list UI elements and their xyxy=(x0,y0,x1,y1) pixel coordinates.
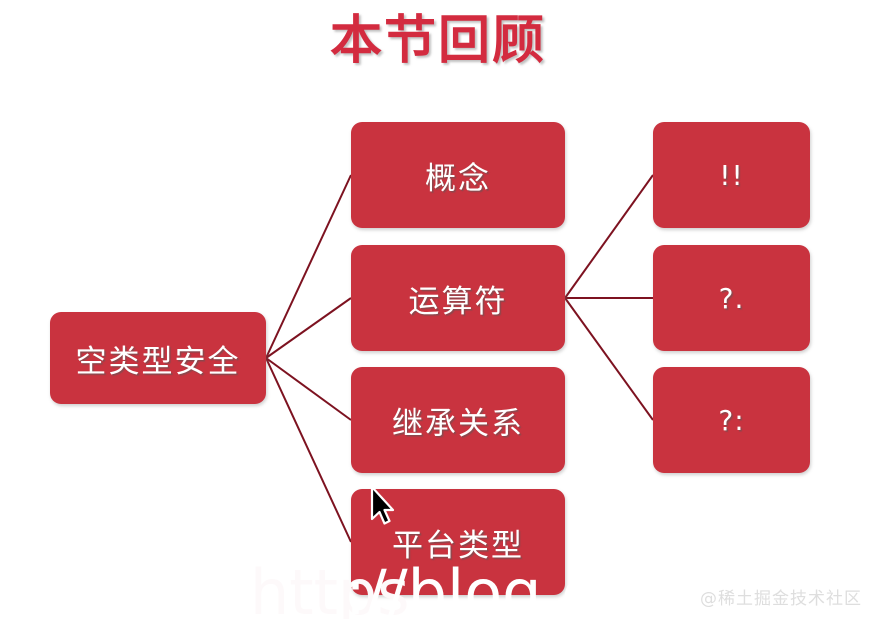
edge-root-inherit xyxy=(266,358,351,420)
node-safe-call-label: ?. xyxy=(719,282,745,315)
edge-root-platform xyxy=(266,358,351,542)
node-not-null-assertion-label: !! xyxy=(719,159,743,192)
watermark-brand: @稀土掘金技术社区 xyxy=(700,584,862,609)
node-root-label: 空类型安全 xyxy=(76,336,241,381)
mouse-pointer-icon xyxy=(370,486,396,526)
node-root[interactable]: 空类型安全 xyxy=(50,312,266,404)
node-elvis-operator-label: ?: xyxy=(718,404,744,437)
edge-operator-bangbang xyxy=(565,175,653,298)
node-concept[interactable]: 概念 xyxy=(351,122,565,228)
page-title: 本节回顾 xyxy=(0,8,876,74)
node-inherit[interactable]: 继承关系 xyxy=(351,367,565,473)
node-inherit-label: 继承关系 xyxy=(392,398,524,443)
slide-canvas: 本节回顾 空类型安全 概念 运算符 继承关系 平台类型 !! ?. ?: htt… xyxy=(0,0,876,619)
watermark-url-overlay: ://blog.csdn xyxy=(345,556,706,619)
node-operator[interactable]: 运算符 xyxy=(351,245,565,351)
edge-root-concept xyxy=(266,175,351,358)
node-not-null-assertion[interactable]: !! xyxy=(653,122,810,228)
edge-root-operator xyxy=(266,298,351,358)
edge-operator-elvis xyxy=(565,298,653,420)
node-operator-label: 运算符 xyxy=(409,276,508,321)
node-elvis-operator[interactable]: ?: xyxy=(653,367,810,473)
node-safe-call[interactable]: ?. xyxy=(653,245,810,351)
node-concept-label: 概念 xyxy=(425,153,491,198)
